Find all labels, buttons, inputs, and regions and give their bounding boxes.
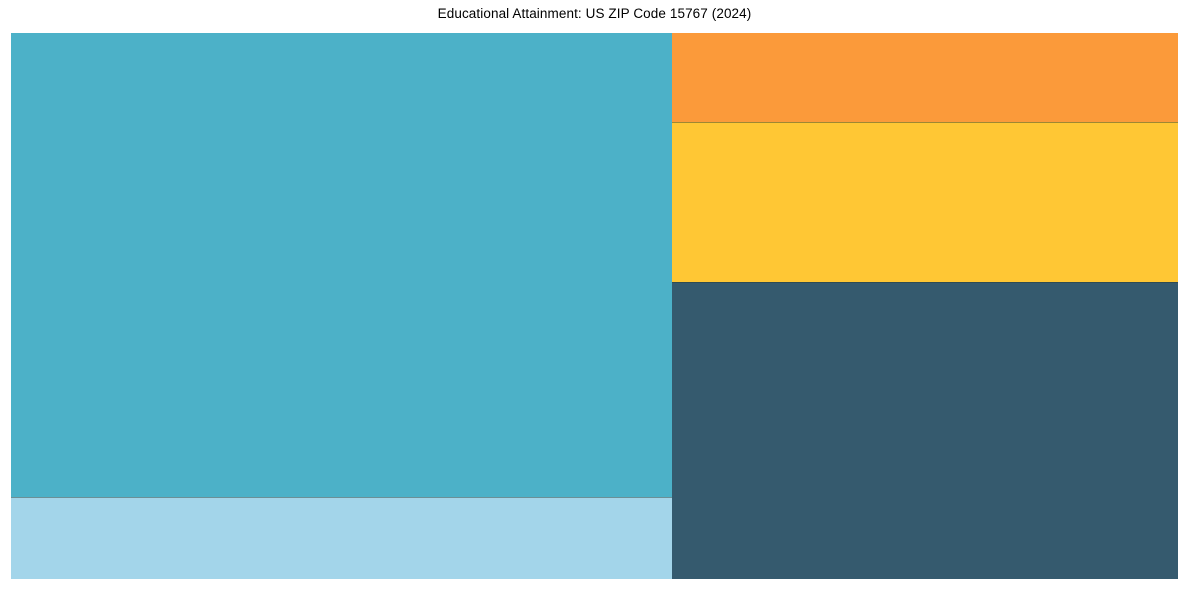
treemap-plot-area: Some college or associate degree Graduat… xyxy=(11,33,1178,579)
page-title: Educational Attainment: US ZIP Code 1576… xyxy=(0,5,1189,23)
treemap-column-right: Less than high school Bachelor's degree … xyxy=(672,33,1178,579)
treemap-tile-bachelors-degree[interactable]: Bachelor's degree xyxy=(672,122,1178,282)
treemap-column-left: Some college or associate degree Graduat… xyxy=(11,33,672,579)
treemap-tile-graduate-or-professional-degree[interactable]: Graduate or professional degree xyxy=(11,497,672,579)
treemap-tile-some-college-or-associate-degree[interactable]: Some college or associate degree xyxy=(11,33,672,497)
treemap-figure: Educational Attainment: US ZIP Code 1576… xyxy=(0,0,1189,590)
treemap-tile-less-than-high-school[interactable]: Less than high school xyxy=(672,33,1178,122)
treemap-tile-high-school-graduate[interactable]: High school graduate xyxy=(672,282,1178,579)
